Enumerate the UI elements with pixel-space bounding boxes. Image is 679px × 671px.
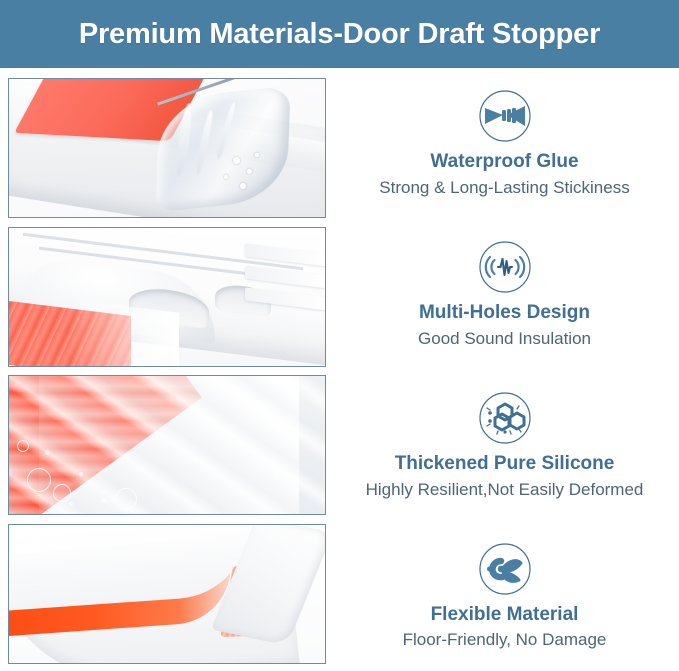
page-title: Premium Materials-Door Draft Stopper (79, 18, 600, 51)
glue-bubble-shape (255, 153, 259, 157)
feature-column: Waterproof Glue Strong & Long-Lasting St… (330, 68, 679, 671)
fin-shape (245, 287, 326, 310)
photo-bent-strip (8, 524, 326, 664)
feature-title: Multi-Holes Design (419, 301, 590, 325)
waterproof-glue-icon (477, 88, 533, 144)
photo-material-macro (8, 375, 326, 515)
feature-subtitle: Floor-Friendly, No Damage (403, 629, 607, 650)
content-area: Waterproof Glue Strong & Long-Lasting St… (0, 68, 679, 671)
sound-wave-icon (477, 239, 533, 295)
feature-title: Flexible Material (431, 603, 579, 627)
photo-cross-section (8, 227, 326, 367)
glue-bubble-shape (247, 169, 252, 174)
feature-title: Waterproof Glue (430, 150, 578, 174)
header-banner: Premium Materials-Door Draft Stopper (0, 0, 679, 68)
feature-waterproof-glue: Waterproof Glue Strong & Long-Lasting St… (330, 68, 679, 219)
glue-bubble-shape (240, 183, 246, 189)
fin-shape (245, 243, 326, 266)
feature-multi-holes-design: Multi-Holes Design Good Sound Insulation (330, 219, 679, 370)
feature-subtitle: Strong & Long-Lasting Stickiness (379, 177, 629, 198)
flexible-knot-icon (477, 541, 533, 597)
feature-subtitle: Highly Resilient,Not Easily Deformed (366, 479, 644, 500)
photo-column (8, 78, 326, 664)
glue-bubble-shape (233, 157, 240, 164)
feature-thickened-pure-silicone: Thickened Pure Silicone Highly Resilient… (330, 370, 679, 521)
feature-title: Thickened Pure Silicone (395, 452, 615, 476)
feature-flexible-material: Flexible Material Floor-Friendly, No Dam… (330, 520, 679, 671)
fin-group (237, 238, 326, 327)
molecule-icon (477, 390, 533, 446)
fin-shape (245, 265, 326, 288)
glue-bubble-shape (224, 175, 228, 179)
product-infographic: Premium Materials-Door Draft Stopper (0, 0, 679, 671)
photo-glue-application (8, 78, 326, 218)
feature-subtitle: Good Sound Insulation (418, 328, 591, 349)
